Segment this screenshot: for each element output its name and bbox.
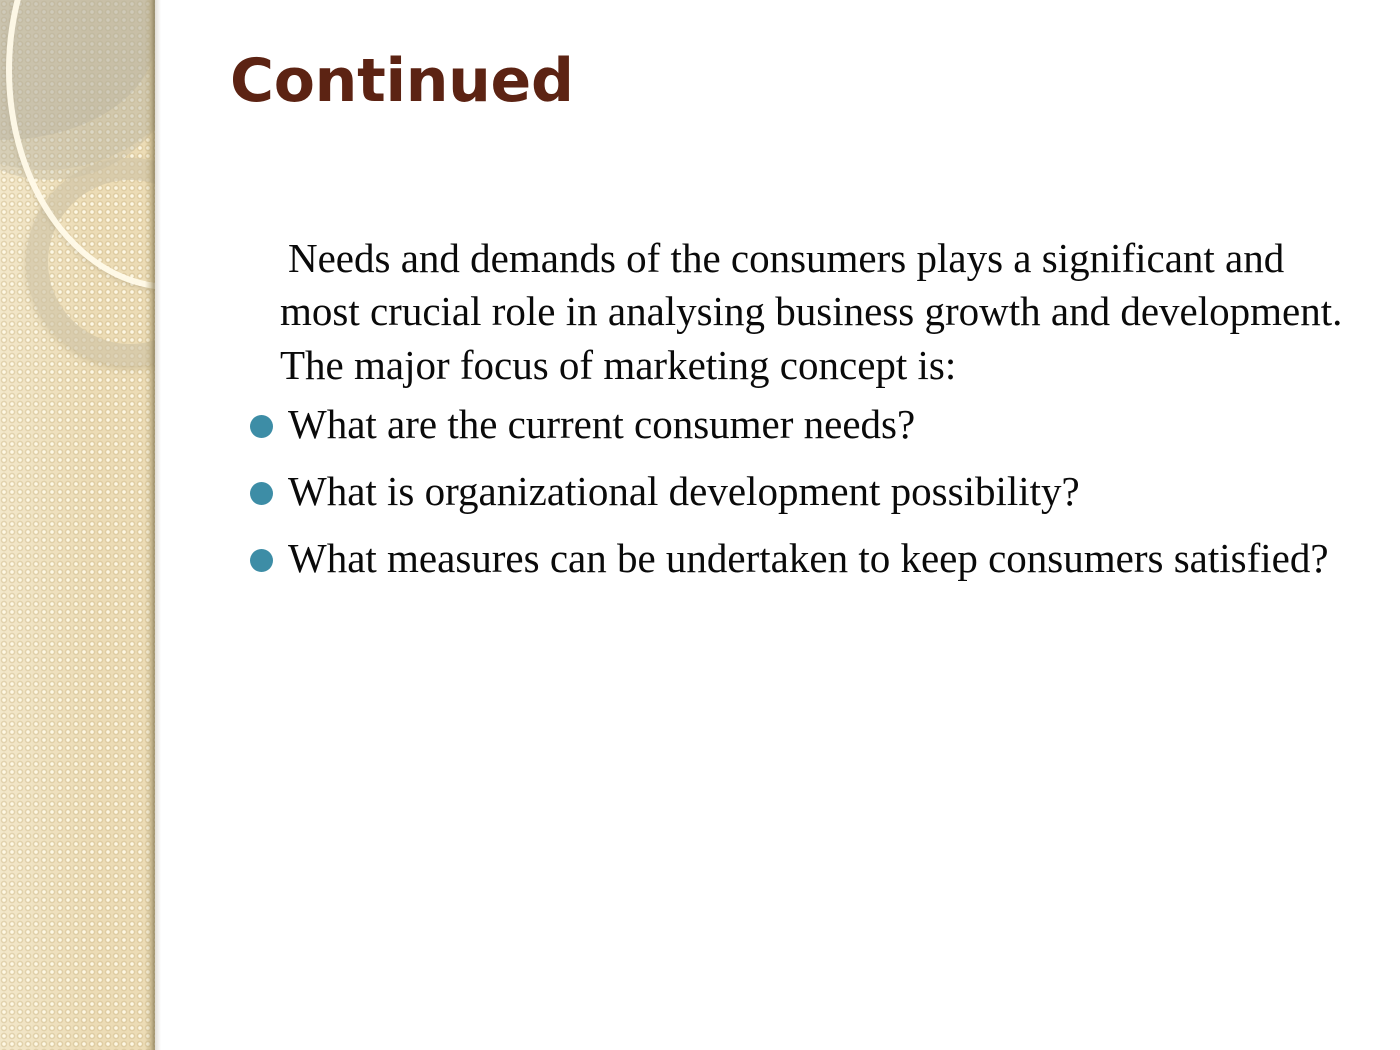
sidebar-right-edge <box>145 0 155 1050</box>
list-item-label: What measures can be undertaken to keep … <box>288 532 1361 585</box>
slide-canvas: Continued Needs and demands of the consu… <box>0 0 1400 1050</box>
bullet-dot-icon <box>250 549 273 572</box>
slide-title: Continued <box>230 48 1340 115</box>
list-item: What are the current consumer needs? <box>236 398 1361 451</box>
bullet-list: What are the current consumer needs? Wha… <box>236 398 1361 586</box>
list-item: What is organizational development possi… <box>236 465 1361 518</box>
list-item: What measures can be undertaken to keep … <box>236 532 1361 585</box>
decorative-sidebar <box>0 0 155 1050</box>
body-paragraph: Needs and demands of the consumers plays… <box>236 232 1361 392</box>
sidebar-drop-shadow <box>155 0 161 1050</box>
list-item-label: What is organizational development possi… <box>288 465 1361 518</box>
slide-body: Needs and demands of the consumers plays… <box>236 232 1361 600</box>
bullet-dot-icon <box>250 482 273 505</box>
bullet-dot-icon <box>250 415 273 438</box>
list-item-label: What are the current consumer needs? <box>288 398 1361 451</box>
